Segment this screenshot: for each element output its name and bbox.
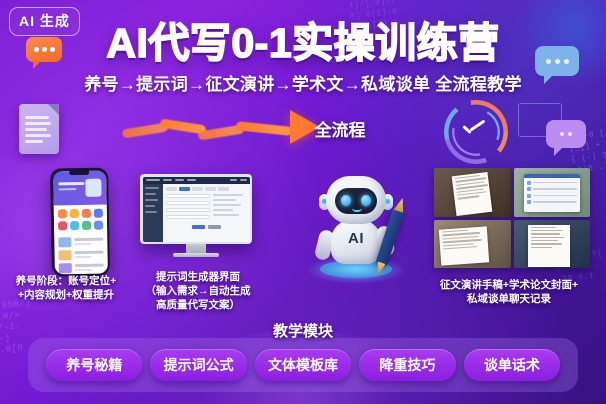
- module-pill-4[interactable]: 降重技巧: [359, 349, 455, 381]
- phone-hero-banner: [53, 170, 107, 205]
- promo-poster: 1]/[-0]// 0] 0[1]-0 -1 ][-0 1 (-/-0 [ [_…: [0, 0, 606, 404]
- app-buttons: [166, 225, 247, 229]
- phone-mockup: [50, 168, 110, 277]
- phone-list: [54, 236, 108, 274]
- caption-photos: 征文演讲手稿+学术论文封面+ 私域谈单聊天记录: [414, 278, 604, 306]
- phone-icon-grid: [53, 204, 106, 234]
- app-sidebar: [143, 184, 163, 242]
- photo-manuscript-in-hand: [434, 168, 511, 217]
- robot-mascot-icon: AI: [300, 168, 412, 280]
- list-item: [58, 236, 103, 247]
- dot: [560, 132, 564, 136]
- dot: [568, 132, 572, 136]
- robot-eye-left: [341, 195, 351, 206]
- monitor-stand-base: [173, 253, 219, 257]
- photo-grid: [434, 168, 590, 268]
- monitor-screen: [140, 174, 252, 244]
- check-icon: [462, 124, 486, 136]
- robot-eye-right: [361, 195, 371, 206]
- modules-title: 教学模块: [0, 320, 606, 341]
- app-main-panel: [163, 184, 250, 242]
- desktop-monitor-mockup: [140, 174, 252, 257]
- caption-monitor: 提示词生成器界面 （输入需求→自动生成 高质量代写文案）: [136, 270, 260, 312]
- list-item: [58, 262, 103, 273]
- module-pill-2[interactable]: 提示词公式: [150, 349, 246, 381]
- phone-screen: [53, 170, 108, 274]
- monitor-stand-neck: [186, 244, 206, 253]
- module-pill-1[interactable]: 养号秘籍: [46, 349, 142, 381]
- flow-ribbon: [122, 112, 302, 146]
- list-item: [58, 249, 103, 260]
- robot-chest-label: AI: [331, 230, 381, 247]
- app-titlebar: [143, 177, 250, 184]
- caption-phone: 养号阶段：账号定位+ +内容规划+权重提升: [2, 274, 130, 302]
- module-pill-5[interactable]: 谈单话术: [464, 349, 560, 381]
- photo-laptop-checklist: [514, 220, 591, 269]
- module-pill-3[interactable]: 文体模板库: [255, 349, 351, 381]
- photo-clipboard-document: [434, 220, 511, 269]
- app-tabs: [166, 187, 247, 191]
- phone-notch: [69, 170, 89, 175]
- chat-bubble-icon: [546, 120, 586, 148]
- modules-panel: 养号秘籍 提示词公式 文体模板库 降重技巧 谈单话术: [28, 338, 578, 392]
- flow-label: 全流程: [290, 116, 390, 141]
- photo-chat-window: [514, 168, 591, 217]
- page-subtitle: 养号→提示词→征文演讲→学术文→私域谈单 全流程教学: [0, 70, 606, 95]
- app-form: [166, 194, 247, 222]
- page-title: AI代写0-1实操训练营: [0, 20, 606, 66]
- document-icon: [19, 104, 59, 154]
